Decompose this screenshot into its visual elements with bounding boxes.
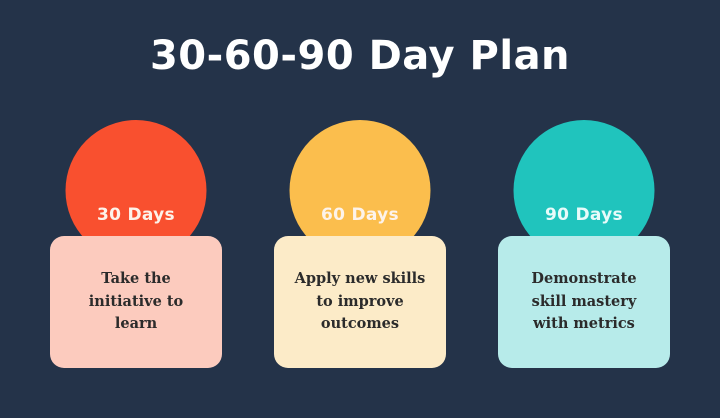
stage-card-90-days: Demonstrate skill mastery with metrics <box>498 236 670 368</box>
stage-list: 30 Days Take the initiative to learn 60 … <box>0 120 720 380</box>
stage-badge-label-30-days: 30 Days <box>97 205 175 225</box>
infographic-canvas: 30-60-90 Day Plan 30 Days Take the initi… <box>0 0 720 418</box>
stage-item-30-days: 30 Days Take the initiative to learn <box>50 120 222 370</box>
stage-card-text-60-days: Apply new skills to improve outcomes <box>290 268 430 335</box>
stage-card-30-days: Take the initiative to learn <box>50 236 222 368</box>
stage-card-text-30-days: Take the initiative to learn <box>66 268 206 335</box>
stage-badge-label-60-days: 60 Days <box>321 205 399 225</box>
stage-card-text-90-days: Demonstrate skill mastery with metrics <box>514 268 654 335</box>
stage-item-90-days: 90 Days Demonstrate skill mastery with m… <box>498 120 670 370</box>
page-title: 30-60-90 Day Plan <box>0 36 720 76</box>
stage-item-60-days: 60 Days Apply new skills to improve outc… <box>274 120 446 370</box>
stage-card-60-days: Apply new skills to improve outcomes <box>274 236 446 368</box>
stage-badge-label-90-days: 90 Days <box>545 205 623 225</box>
